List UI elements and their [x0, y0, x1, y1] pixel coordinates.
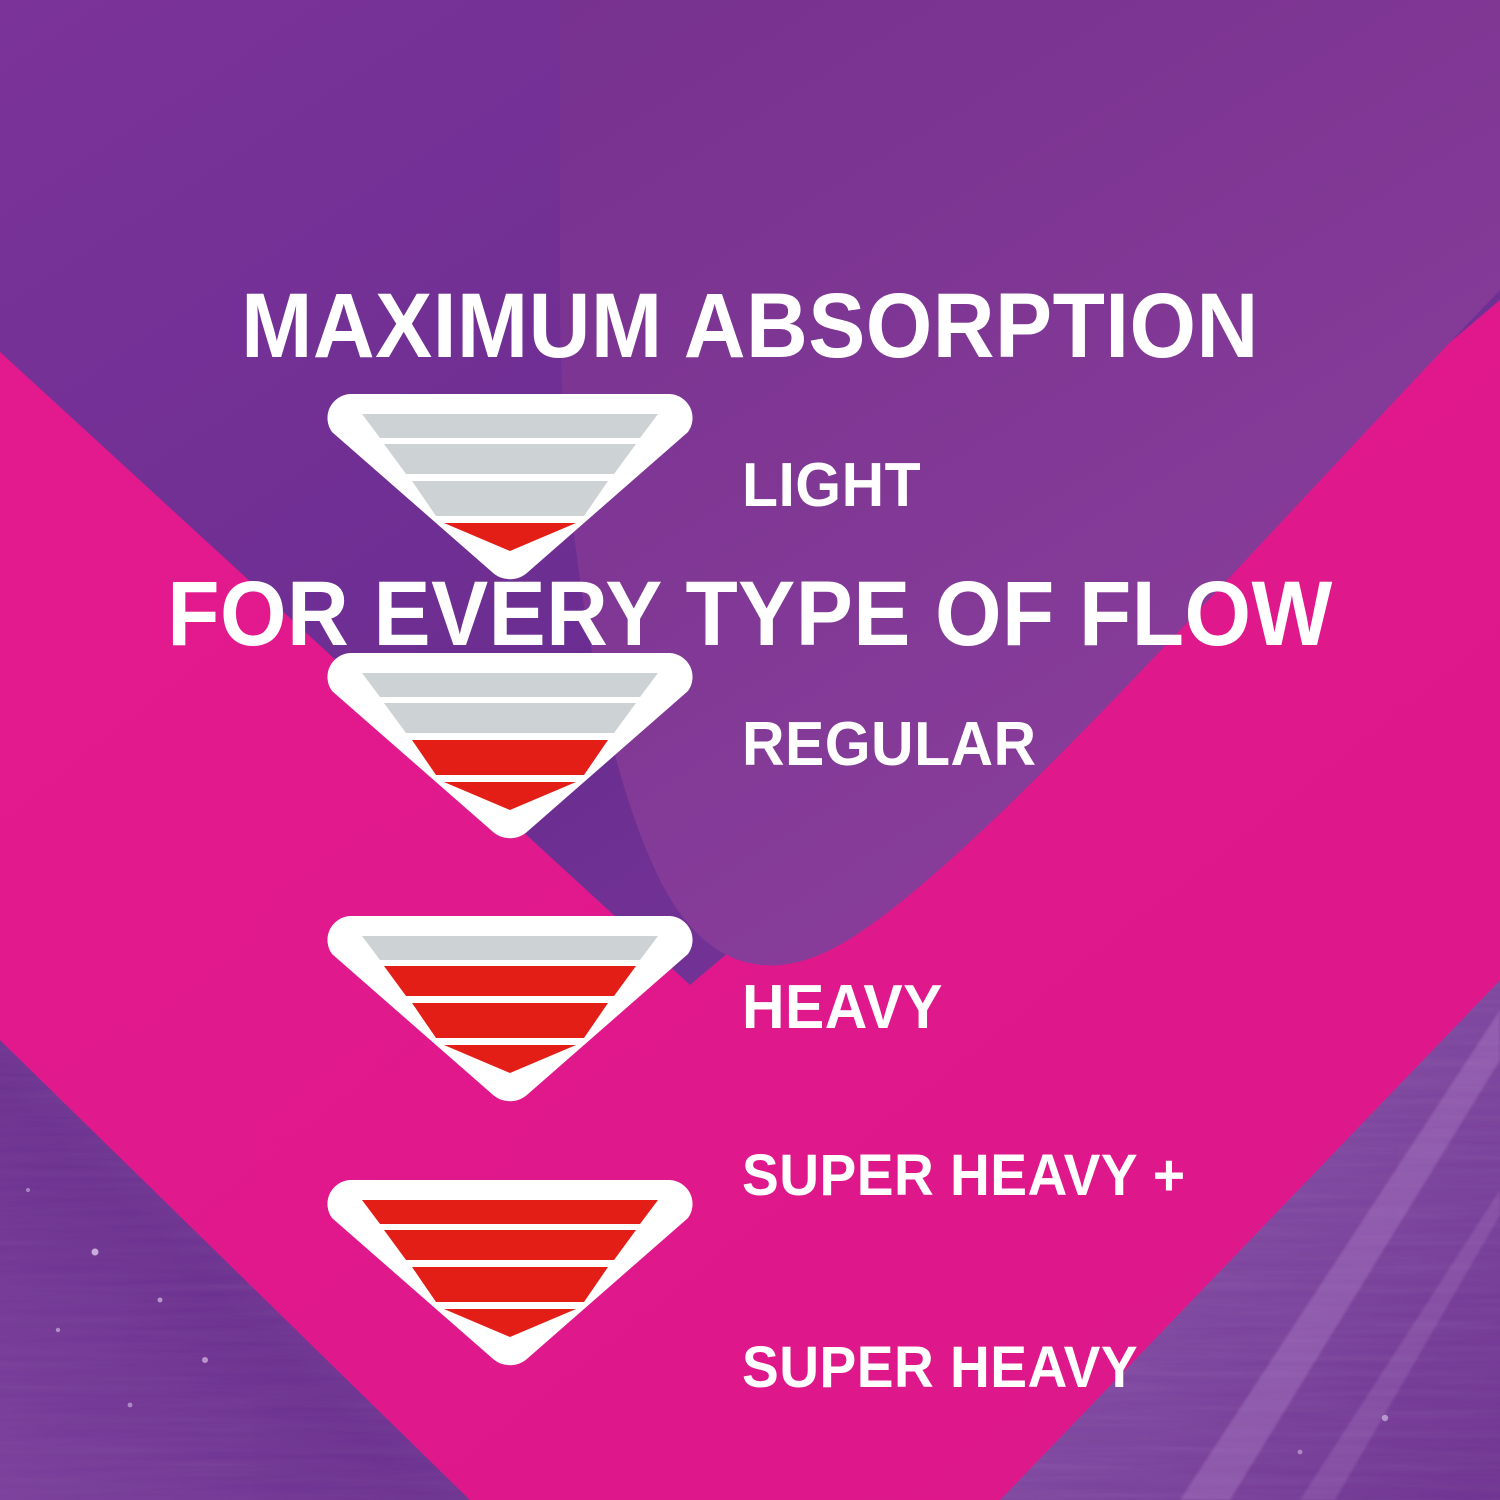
flow-level-label-super-heavy-line-2: SUPER HEAVY — [742, 1336, 1186, 1400]
band-2 — [384, 1230, 636, 1260]
absorption-triangle-icon-super-heavy — [320, 1172, 700, 1372]
band-1 — [362, 1200, 658, 1224]
triangle-svg — [320, 1172, 700, 1372]
absorption-triangle-icon-regular — [320, 645, 700, 845]
flow-level-label-super-heavy: SUPER HEAVY + SUPER HEAVY — [742, 1016, 1186, 1500]
band-2 — [384, 703, 636, 733]
band-1 — [362, 936, 658, 960]
triangle-svg — [320, 645, 700, 845]
flow-level-label-regular: REGULAR — [742, 711, 1037, 779]
promo-graphic: MAXIMUM ABSORPTION FOR EVERY TYPE OF FLO… — [0, 0, 1500, 1500]
band-1 — [362, 673, 658, 697]
band-3 — [412, 481, 608, 516]
flow-level-label-light: LIGHT — [742, 452, 921, 520]
flow-level-row-light: LIGHT — [0, 386, 1500, 586]
band-3 — [412, 1267, 608, 1302]
flow-level-label-super-heavy-line-1: SUPER HEAVY + — [742, 1144, 1186, 1208]
band-2 — [384, 444, 636, 474]
absorption-triangle-icon-light — [320, 386, 700, 586]
band-2 — [384, 966, 636, 996]
absorption-triangle-icon-heavy — [320, 908, 700, 1108]
band-1 — [362, 414, 658, 438]
band-3 — [412, 1003, 608, 1038]
flow-level-row-super-heavy: SUPER HEAVY + SUPER HEAVY — [0, 1172, 1500, 1372]
band-3 — [412, 740, 608, 775]
flow-level-row-regular: REGULAR — [0, 645, 1500, 845]
flow-level-list: LIGHT REGULAR — [0, 0, 1500, 1500]
triangle-svg — [320, 386, 700, 586]
triangle-svg — [320, 908, 700, 1108]
